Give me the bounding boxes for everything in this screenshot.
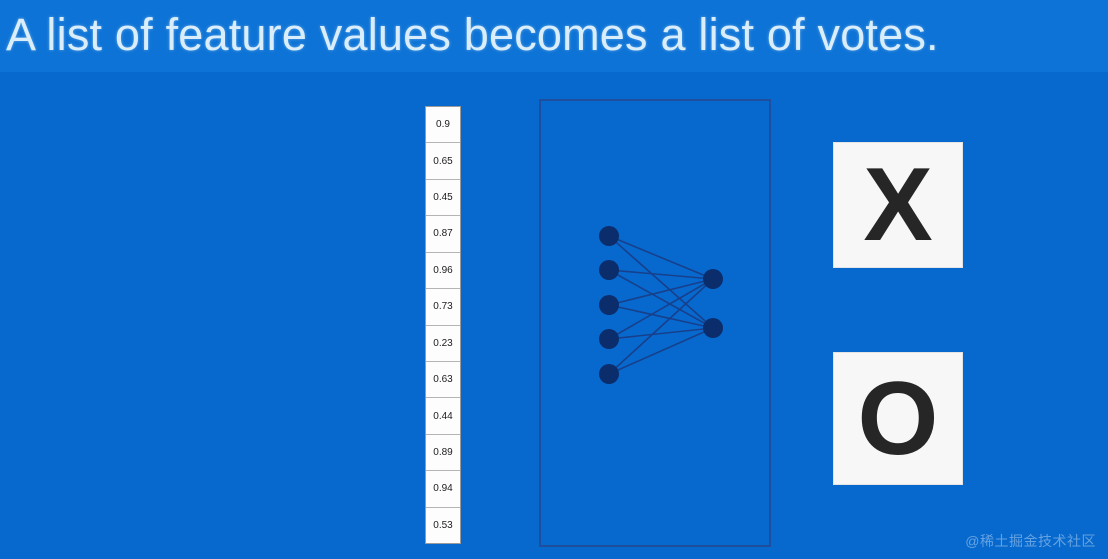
network-node <box>599 260 619 280</box>
network-edge <box>609 279 713 374</box>
network-edges <box>609 236 713 374</box>
network-node <box>599 226 619 246</box>
network-diagram <box>539 99 771 547</box>
feature-cell: 0.45 <box>426 180 460 216</box>
network-edge <box>609 270 713 279</box>
class-card-o: O <box>833 352 963 485</box>
network-edge <box>609 236 713 328</box>
feature-cell: 0.63 <box>426 362 460 398</box>
feature-cell: 0.65 <box>426 143 460 179</box>
feature-cell: 0.53 <box>426 508 460 543</box>
network-node <box>599 364 619 384</box>
page-title: A list of feature values becomes a list … <box>6 4 1102 66</box>
class-card-x: X <box>833 142 963 268</box>
network-edge <box>609 236 713 279</box>
network-node <box>599 329 619 349</box>
feature-cell: 0.87 <box>426 216 460 252</box>
feature-cell: 0.73 <box>426 289 460 325</box>
feature-cell: 0.44 <box>426 398 460 434</box>
network-node <box>703 318 723 338</box>
watermark: @稀土掘金技术社区 <box>965 531 1096 551</box>
feature-value-list: 0.90.650.450.870.960.730.230.630.440.890… <box>425 106 461 544</box>
feature-cell: 0.94 <box>426 471 460 507</box>
network-node <box>599 295 619 315</box>
slide-canvas: A list of feature values becomes a list … <box>0 0 1108 559</box>
network-nodes <box>599 226 723 384</box>
network-edge <box>609 270 713 328</box>
network-node <box>703 269 723 289</box>
feature-cell: 0.89 <box>426 435 460 471</box>
feature-cell: 0.96 <box>426 253 460 289</box>
network-edge <box>609 328 713 374</box>
feature-cell: 0.23 <box>426 326 460 362</box>
feature-cell: 0.9 <box>426 107 460 143</box>
